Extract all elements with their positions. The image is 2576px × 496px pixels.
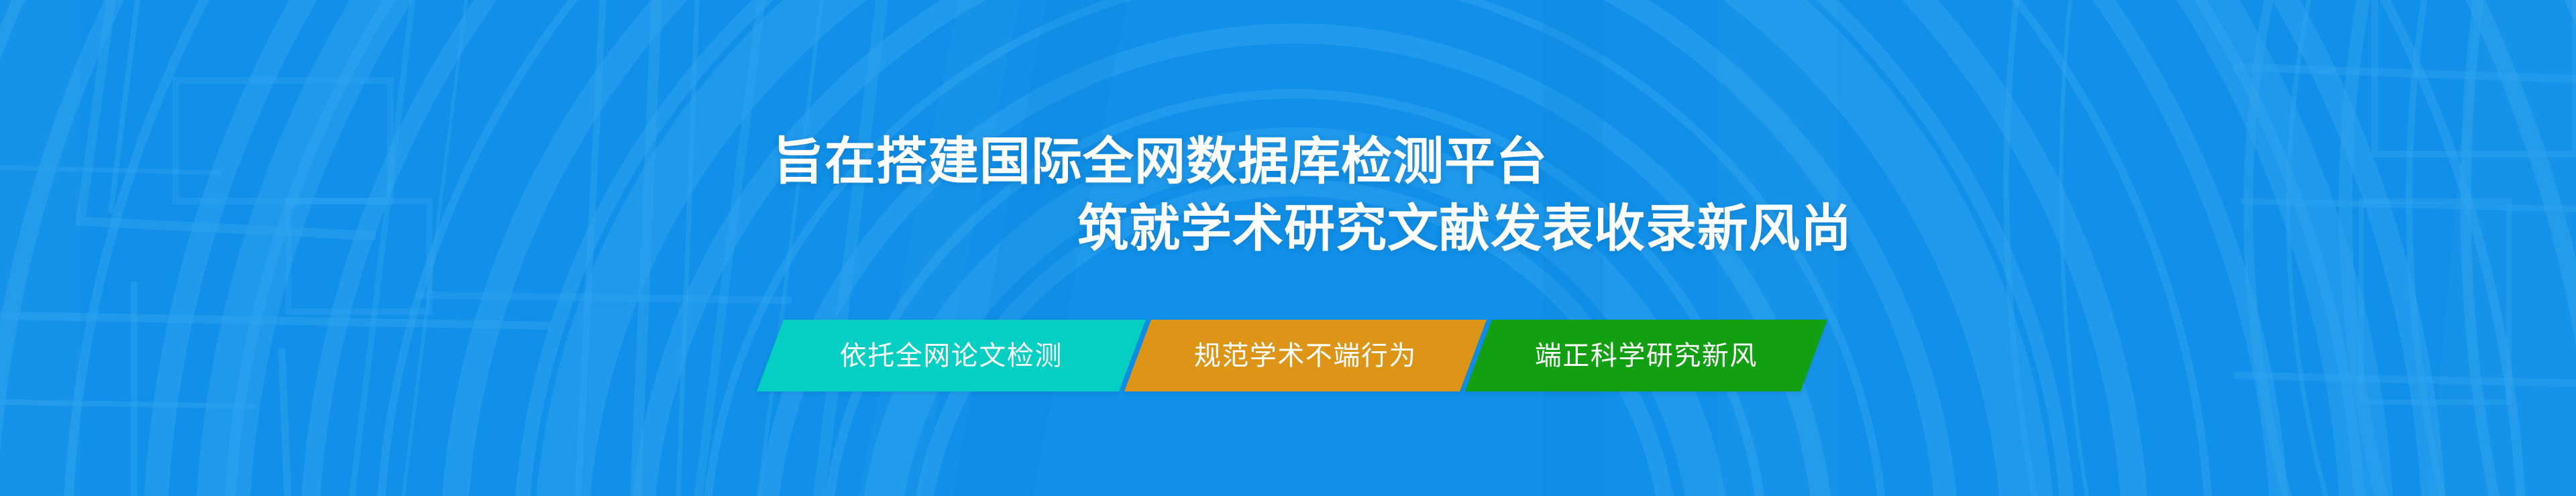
promo-banner: 旨在搭建国际全网数据库检测平台 筑就学术研究文献发表收录新风尚 依托全网论文检测… [0, 0, 2576, 496]
feature-badge-duan-zheng-ke-xue[interactable]: 端正科学研究新风 [1465, 320, 1827, 391]
feature-badge-label: 依托全网论文检测 [840, 341, 1063, 371]
feature-badge-gui-fan-xue-shu[interactable]: 规范学术不端行为 [1124, 320, 1487, 391]
feature-badge-quan-wang-jian-ce[interactable]: 依托全网论文检测 [757, 320, 1146, 391]
feature-badge-label: 规范学术不端行为 [1194, 341, 1417, 371]
headline-line-1: 旨在搭建国际全网数据库检测平台 [773, 131, 1548, 193]
headline-line-2: 筑就学术研究文献发表收录新风尚 [1077, 198, 1852, 260]
feature-badge-label: 端正科学研究新风 [1535, 341, 1758, 371]
feature-badge-strip: 依托全网论文检测 规范学术不端行为 端正科学研究新风 [770, 320, 1814, 391]
